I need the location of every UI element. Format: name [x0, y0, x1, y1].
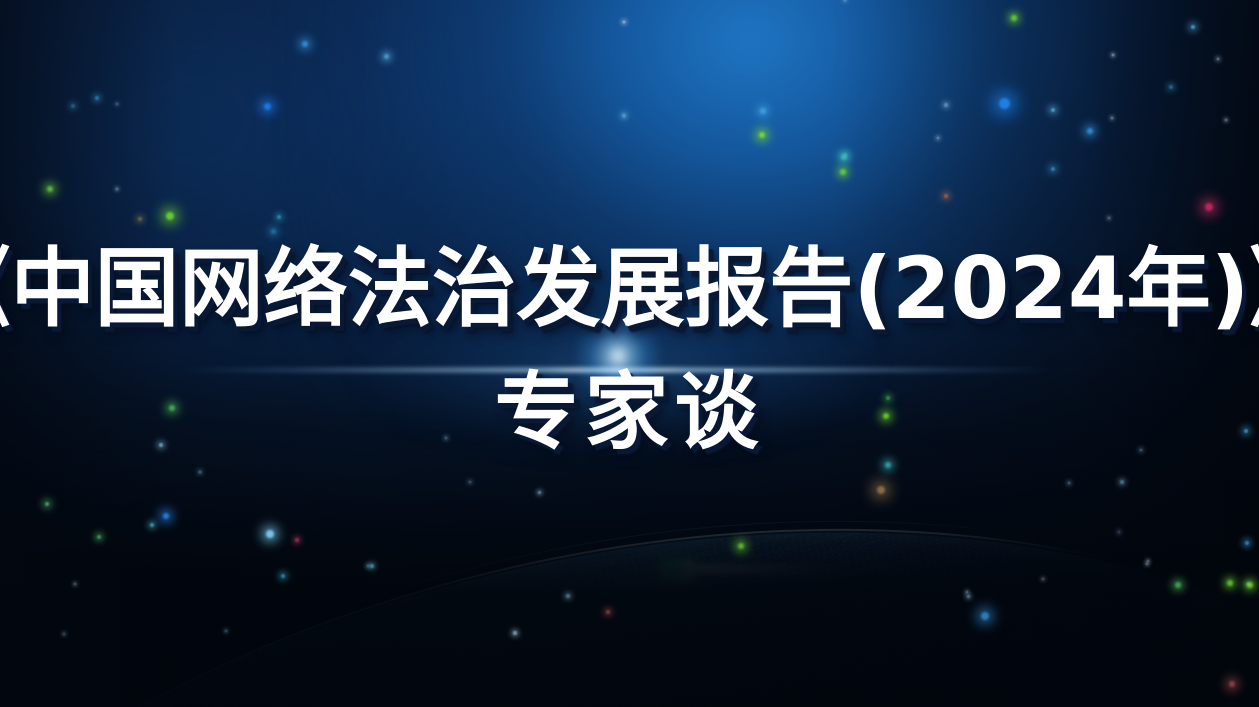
title-card-stage: 《中国网络法治发展报告(2024年)》 专家谈: [0, 0, 1259, 707]
title-line-primary: 《中国网络法治发展报告(2024年)》: [0, 246, 1259, 332]
title-block: 《中国网络法治发展报告(2024年)》 专家谈: [0, 0, 1259, 707]
title-line-secondary: 专家谈: [494, 370, 764, 454]
